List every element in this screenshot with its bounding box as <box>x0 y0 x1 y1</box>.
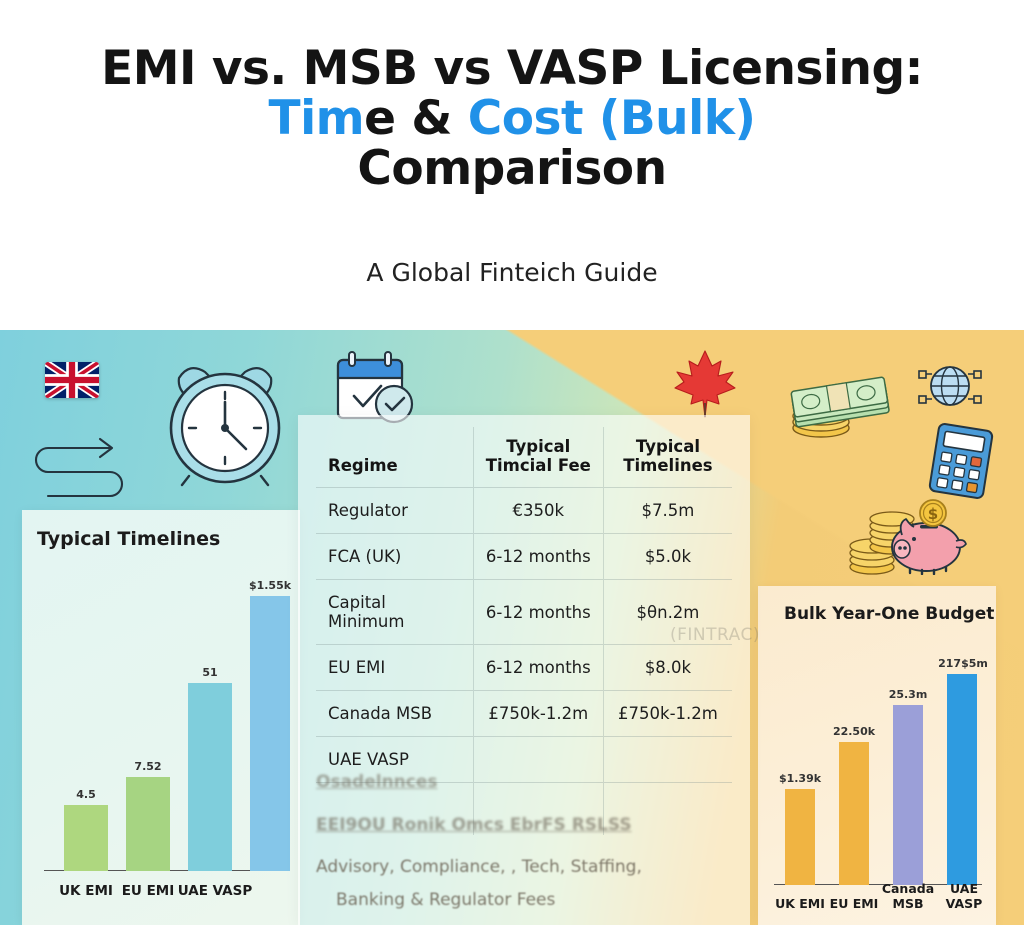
footer-body-line-1: Advisory, Compliance, , Tech, Staffing, <box>316 857 736 877</box>
chart-card-bulk-budget: Bulk Year-One Budget $1.39k 22.50k 25.3m… <box>758 586 996 925</box>
page-title-line-3: Comparison <box>0 144 1024 194</box>
col-header-timelines-line2: Timelines <box>610 456 726 475</box>
fintrac-watermark: (FINTRAC) <box>670 625 760 645</box>
title-accent-cost: Cost (Bulk) <box>468 91 756 146</box>
cell-regime-4: Canada MSB <box>316 691 473 737</box>
page-title-line-1: EMI vs. MSB vs VASP Licensing: <box>0 44 1024 94</box>
cell-regime-0: Regulator <box>316 488 473 534</box>
infographic-root: EMI vs. MSB vs VASP Licensing: Time & Co… <box>0 0 1024 925</box>
x-tick-budget-uae-vasp: UAE VASP <box>930 881 998 911</box>
table-header-row: Regime Typical Timcial Fee Typical Timel… <box>316 427 732 488</box>
cell-timeline-1: $5.0k <box>603 534 732 580</box>
bar-budget-uae-vasp <box>947 674 977 885</box>
table-row: Canada MSB £750k-1.2m £750k-1.2m <box>316 691 732 737</box>
footer-heading: Osadelnnces <box>316 772 736 792</box>
bar-value-eu-emi: 7.52 <box>116 760 180 773</box>
bar-value-budget-canada-msb: 25.3m <box>878 688 938 701</box>
footer-body-line-2: Banking & Regulator Fees <box>336 890 756 910</box>
footer-subheading: EEI9OU Ronik Omcs EbrFS RSLSS <box>316 815 736 835</box>
table-row: Regulator €350k $7.5m <box>316 488 732 534</box>
uk-flag-icon <box>45 362 99 398</box>
bar-value-uk-emi: 4.5 <box>54 788 118 801</box>
cell-fee-4: £750k-1.2m <box>473 691 603 737</box>
bar-budget-canada-msb <box>893 705 923 885</box>
col-header-fee-line2: Timcial Fee <box>480 456 597 475</box>
col-header-fee-line1: Typical <box>480 437 597 456</box>
header-section: EMI vs. MSB vs VASP Licensing: Time & Co… <box>0 0 1024 330</box>
col-header-regime: Regime <box>316 427 473 488</box>
cell-fee-3: 6-12 months <box>473 645 603 691</box>
cell-regime-1: FCA (UK) <box>316 534 473 580</box>
col-header-timelines-line1: Typical <box>610 437 726 456</box>
bar-value-uae-vasp: 51 <box>178 666 242 679</box>
bar-value-fourth: $1.55k <box>232 579 308 592</box>
cell-fee-2: 6-12 months <box>473 580 603 645</box>
title-accent-time: Tim <box>269 91 365 146</box>
x-tick-uae-vasp: UAE VASP <box>172 883 258 899</box>
bar-fourth <box>250 596 290 871</box>
title-plain-and: e & <box>364 91 468 146</box>
title-block: EMI vs. MSB vs VASP Licensing: Time & Co… <box>0 44 1024 193</box>
svg-text:$: $ <box>928 505 938 523</box>
cell-fee-1: 6-12 months <box>473 534 603 580</box>
cell-regime-3: EU EMI <box>316 645 473 691</box>
cell-timeline-4: £750k-1.2m <box>603 691 732 737</box>
alarm-clock-icon <box>155 352 295 492</box>
table-row: FCA (UK) 6-12 months $5.0k <box>316 534 732 580</box>
chart-plot-bulk-budget: $1.39k 22.50k 25.3m 217$5m UK EMI EU EMI… <box>758 586 996 925</box>
bar-uk-emi <box>64 805 108 871</box>
cell-timeline-0: $7.5m <box>603 488 732 534</box>
bar-uae-vasp <box>188 683 232 871</box>
cash-stack-icon <box>781 368 899 446</box>
bar-value-budget-uk-emi: $1.39k <box>770 772 830 785</box>
table-head: Regime Typical Timcial Fee Typical Timel… <box>316 427 732 488</box>
globe-network-icon <box>916 352 984 420</box>
piggy-bank-coins-icon: $ <box>840 485 970 575</box>
cell-fee-0: €350k <box>473 488 603 534</box>
bar-eu-emi <box>126 777 170 871</box>
bar-value-budget-eu-emi: 22.50k <box>824 725 884 738</box>
comparison-table-card: Regime Typical Timcial Fee Typical Timel… <box>298 415 750 925</box>
bar-budget-eu-emi <box>839 742 869 885</box>
chart-card-typical-timelines: Typical Timelines 4.5 7.52 51 $1.55k UK … <box>22 510 300 925</box>
winding-arrow-icon <box>28 425 133 500</box>
page-subtitle: A Global Finteich Guide <box>0 258 1024 287</box>
col-header-typical-fee: Typical Timcial Fee <box>473 427 603 488</box>
table-row: EU EMI 6-12 months $8.0k <box>316 645 732 691</box>
chart-plot-timelines: 4.5 7.52 51 $1.55k UK EMI EU EMI UAE VAS… <box>22 510 300 925</box>
canada-maple-leaf-icon <box>672 348 738 420</box>
cell-regime-2: Capital Minimum <box>316 580 473 645</box>
cell-timeline-3: $8.0k <box>603 645 732 691</box>
bar-value-budget-uae-vasp: 217$5m <box>930 657 996 670</box>
bar-budget-uk-emi <box>785 789 815 885</box>
page-title-line-2: Time & Cost (Bulk) <box>0 94 1024 144</box>
col-header-typical-timelines: Typical Timelines <box>603 427 732 488</box>
